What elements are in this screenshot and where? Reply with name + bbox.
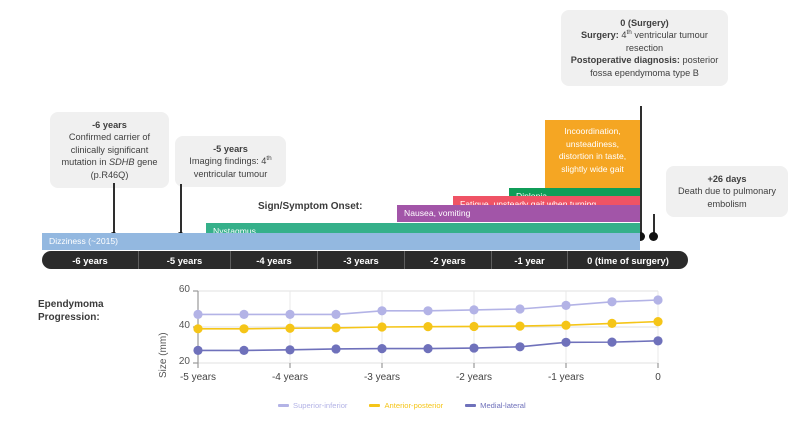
chart-point-0-5 [423, 306, 432, 315]
axis-segment-zero[interactable]: 0 (time of surgery) [568, 251, 688, 269]
callout-imaging-heading: -5 years [184, 143, 277, 155]
progression-label-line2: Progression: [38, 312, 100, 323]
symptom-bar-dizziness-label: Dizziness (~2015) [42, 233, 118, 250]
chart-point-0-1 [239, 310, 248, 319]
legend-label-medial-lateral: Medial-lateral [480, 401, 526, 410]
chart-point-2-3 [331, 344, 340, 353]
chart-point-2-8 [561, 338, 570, 347]
callout-surgery-heading: 0 (Surgery) [570, 17, 719, 29]
chart-point-2-0 [193, 346, 202, 355]
callout-genetics-heading: -6 years [59, 119, 160, 131]
chart-point-0-2 [285, 310, 294, 319]
chart-point-1-8 [561, 321, 570, 330]
chart-point-1-7 [515, 322, 524, 331]
chart-point-0-6 [469, 305, 478, 314]
chart-point-2-7 [515, 342, 524, 351]
axis-segment-minus3[interactable]: -3 years [318, 251, 405, 269]
symptom-onset-label: Sign/Symptom Onset: [258, 200, 362, 213]
chart-legend: Superior-inferior Anterior-posterior Med… [278, 401, 526, 410]
chart-point-0-0 [193, 310, 202, 319]
chart-point-1-5 [423, 322, 432, 331]
symptom-bar-incoordination-label: Incoordination,unsteadiness,distortion i… [545, 125, 640, 175]
chart-point-1-10 [653, 317, 662, 326]
axis-segment-minus5[interactable]: -5 years [139, 251, 231, 269]
chart-point-2-10 [653, 336, 662, 345]
legend-item-superior-inferior[interactable]: Superior-inferior [278, 401, 347, 410]
axis-segment-minus4[interactable]: -4 years [231, 251, 318, 269]
chart-point-1-3 [331, 323, 340, 332]
chart-point-2-2 [285, 345, 294, 354]
chart-point-0-4 [377, 306, 386, 315]
chart-point-1-1 [239, 324, 248, 333]
progression-label-line1: Ependymoma [38, 299, 104, 310]
callout-surgery-resection: Surgery: 4th ventricular tumour resectio… [570, 29, 719, 54]
axis-segment-minus1[interactable]: -1 year [492, 251, 568, 269]
legend-swatch-superior-inferior [278, 404, 289, 406]
chart-point-2-4 [377, 344, 386, 353]
chart-point-2-6 [469, 343, 478, 352]
chart-point-0-10 [653, 295, 662, 304]
timeline-infographic: -6 years Confirmed carrier of clinically… [0, 0, 800, 430]
symptom-bar-nausea-label: Nausea, vomiting [397, 205, 470, 222]
legend-item-anterior-posterior[interactable]: Anterior-posterior [369, 401, 443, 410]
callout-genetics-body: Confirmed carrier of clinically signific… [59, 131, 160, 181]
callout-imaging-body: Imaging findings: 4th ventricular tumour [184, 155, 277, 180]
axis-segment-minus2[interactable]: -2 years [405, 251, 492, 269]
symptom-bar-incoordination: Incoordination,unsteadiness,distortion i… [545, 120, 640, 188]
ependymoma-progression-label: Ependymoma Progression: [38, 298, 148, 324]
callout-surgery: 0 (Surgery) Surgery: 4th ventricular tum… [561, 10, 728, 86]
chart-point-0-3 [331, 310, 340, 319]
chart-point-2-1 [239, 346, 248, 355]
chart-point-1-2 [285, 324, 294, 333]
ependymoma-progression-chart: Size (mm) 204060 -5 years-4 years-3 year… [150, 283, 670, 393]
axis-segment-minus6[interactable]: -6 years [42, 251, 139, 269]
symptom-bar-dizziness: Dizziness (~2015) [42, 233, 640, 250]
chart-point-1-6 [469, 322, 478, 331]
chart-point-2-9 [607, 338, 616, 347]
chart-plot-area [150, 283, 670, 393]
legend-label-superior-inferior: Superior-inferior [293, 401, 347, 410]
leader-line-imaging [180, 184, 182, 236]
legend-label-anterior-posterior: Anterior-posterior [384, 401, 443, 410]
callout-death: +26 days Death due to pulmonary embolism [666, 166, 788, 217]
callout-death-heading: +26 days [675, 173, 779, 185]
chart-point-0-7 [515, 304, 524, 313]
timeline-dot-death [649, 232, 658, 241]
leader-line-surgery [640, 106, 642, 237]
chart-point-0-9 [607, 297, 616, 306]
chart-point-0-8 [561, 301, 570, 310]
chart-point-1-0 [193, 324, 202, 333]
leader-line-genetics [113, 183, 115, 236]
legend-item-medial-lateral[interactable]: Medial-lateral [465, 401, 526, 410]
callout-imaging: -5 years Imaging findings: 4th ventricul… [175, 136, 286, 187]
callout-genetics: -6 years Confirmed carrier of clinically… [50, 112, 169, 188]
symptom-bar-nausea: Nausea, vomiting [397, 205, 640, 222]
time-axis: -6 years -5 years -4 years -3 years -2 y… [42, 251, 688, 269]
chart-point-2-5 [423, 344, 432, 353]
chart-point-1-4 [377, 322, 386, 331]
legend-swatch-medial-lateral [465, 404, 476, 406]
legend-swatch-anterior-posterior [369, 404, 380, 406]
callout-death-body: Death due to pulmonary embolism [675, 185, 779, 210]
callout-surgery-diagnosis: Postoperative diagnosis: posterior fossa… [570, 54, 719, 79]
chart-point-1-9 [607, 319, 616, 328]
